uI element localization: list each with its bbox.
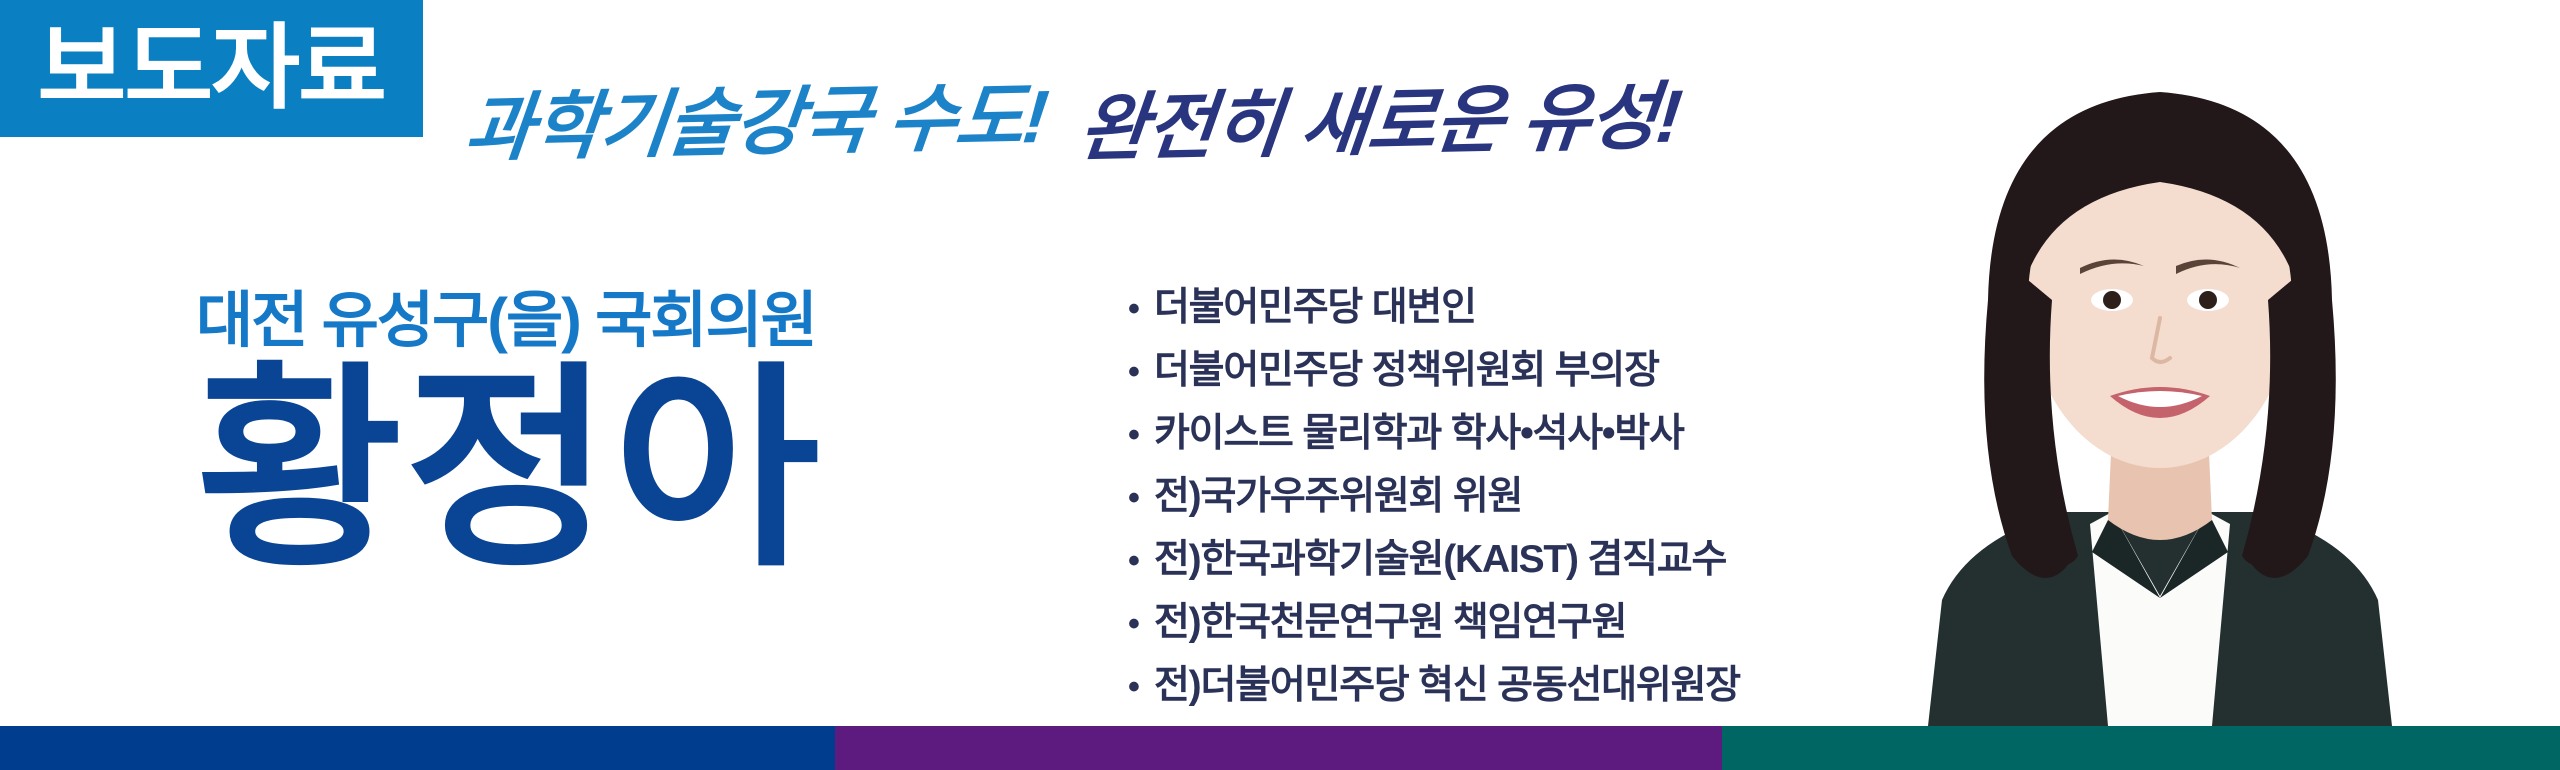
- credential-text: 전)한국과학기술원(KAIST) 겸직교수: [1154, 540, 1726, 579]
- bullet-icon: •: [1128, 544, 1154, 578]
- credential-text: 카이스트 물리학과 학사•석사•박사: [1154, 414, 1684, 453]
- list-item: • 전)한국천문연구원 책임연구원: [1128, 603, 1828, 642]
- candidate-name: 황정아: [196, 360, 1102, 582]
- candidate-portrait-image: [1760, 0, 2560, 726]
- campaign-banner: 보도자료 과학기술강국 수도! 완전히 새로운 유성! 더불어 민주당 대전 유…: [0, 0, 2560, 770]
- bar-segment-purple: [835, 726, 1722, 770]
- bar-segment-teal: [1722, 726, 2560, 770]
- candidate-portrait: [1760, 0, 2560, 726]
- bullet-icon: •: [1128, 355, 1154, 389]
- list-item: • 더불어민주당 대변인: [1128, 288, 1828, 327]
- credential-text: 전)한국천문연구원 책임연구원: [1154, 603, 1626, 642]
- credential-text: 더불어민주당 정책위원회 부의장: [1154, 351, 1659, 390]
- candidate-block: 대전 유성구(을) 국회의원 황정아: [196, 288, 1076, 582]
- bullet-icon: •: [1128, 292, 1154, 326]
- press-release-badge: 보도자료: [0, 0, 423, 137]
- credential-text: 전)국가우주위원회 위원: [1154, 477, 1522, 516]
- credential-text: 전)더불어민주당 혁신 공동선대위원장: [1154, 666, 1740, 705]
- bullet-icon: •: [1128, 607, 1154, 641]
- press-release-badge-label: 보도자료: [38, 22, 386, 115]
- bar-segment-navy: [0, 726, 835, 770]
- list-item: • 더불어민주당 정책위원회 부의장: [1128, 351, 1828, 390]
- bottom-color-bar: [0, 726, 2560, 770]
- list-item: • 전)한국과학기술원(KAIST) 겸직교수: [1128, 540, 1828, 579]
- slogan-part-one: 과학기술강국 수도!: [462, 80, 1051, 166]
- bullet-icon: •: [1128, 481, 1154, 515]
- list-item: • 전)더불어민주당 혁신 공동선대위원장: [1128, 666, 1828, 705]
- slogan: 과학기술강국 수도! 완전히 새로운 유성!: [462, 92, 1675, 166]
- credentials-list: • 더불어민주당 대변인 • 더불어민주당 정책위원회 부의장 • 카이스트 물…: [1128, 288, 1828, 729]
- candidate-office-title: 대전 유성구(을) 국회의원: [196, 288, 1094, 352]
- list-item: • 카이스트 물리학과 학사•석사•박사: [1128, 414, 1828, 453]
- credential-text: 더불어민주당 대변인: [1154, 288, 1476, 327]
- bullet-icon: •: [1128, 418, 1154, 452]
- bullet-icon: •: [1128, 670, 1154, 704]
- slogan-part-two: 완전히 새로운 유성!: [1076, 79, 1684, 166]
- list-item: • 전)국가우주위원회 위원: [1128, 477, 1828, 516]
